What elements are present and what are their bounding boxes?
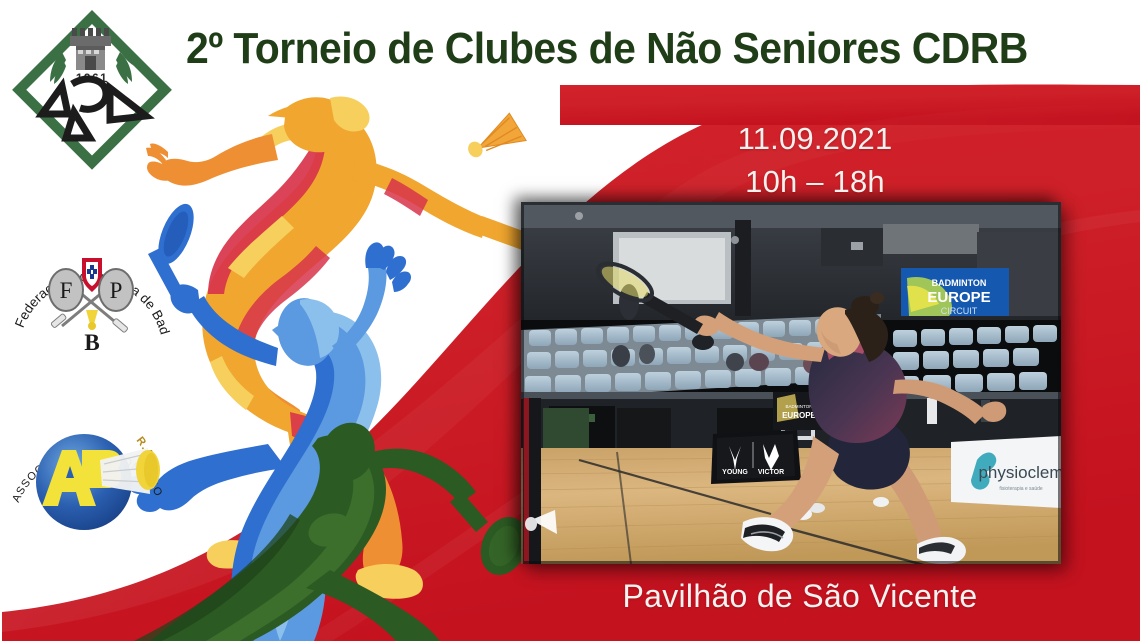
- physioclem-board: physioclem fisioterapia e saúde: [951, 436, 1061, 508]
- logo-abram: ASSOCIAÇÃO DE BADMINTON R.A.M.: [8, 398, 174, 564]
- event-time: 10h – 18h: [620, 161, 1010, 204]
- fpb-letter-p: P: [110, 278, 123, 303]
- logo-fpb: Federação Portuguesa de Badminton: [8, 214, 174, 380]
- svg-text:physioclem: physioclem: [978, 463, 1061, 482]
- svg-text:VICTOR: VICTOR: [758, 469, 784, 476]
- event-date: 11.09.2021: [620, 118, 1010, 161]
- svg-text:EUROPE: EUROPE: [782, 411, 816, 420]
- svg-text:fisioterapia e saúde: fisioterapia e saúde: [999, 486, 1043, 492]
- svg-text:EUROPE: EUROPE: [927, 289, 990, 306]
- shuttle-icon: [462, 112, 526, 167]
- shuttlecock-icon: [86, 310, 98, 330]
- court-barrier-sponsor: YOUNG VICTOR: [711, 430, 801, 484]
- castle-tower-icon: [70, 28, 111, 70]
- event-venue: Pavilhão de São Vicente: [520, 578, 1080, 615]
- event-datetime: 11.09.2021 10h – 18h: [620, 118, 1010, 204]
- logo-cdrb: 1961 Clube Desportivo Ribeira Brava: [6, 4, 178, 176]
- svg-text:CIRCUIT: CIRCUIT: [941, 306, 978, 316]
- badminton-europe-banner: BADMINTON EUROPE CIRCUIT: [901, 268, 1009, 316]
- event-photograph: BADMINTON EUROPE CIRCUIT: [521, 202, 1061, 564]
- svg-text:BADMINTON: BADMINTON: [786, 404, 813, 409]
- page-title: 2º Torneio de Clubes de Não Seniores CDR…: [186, 26, 1060, 72]
- svg-text:YOUNG: YOUNG: [722, 469, 748, 476]
- svg-text:BADMINTON: BADMINTON: [932, 278, 987, 288]
- fpb-letter-f: F: [60, 278, 73, 303]
- poster-canvas: 2º Torneio de Clubes de Não Seniores CDR…: [0, 0, 1140, 641]
- fpb-letter-b: B: [84, 330, 99, 355]
